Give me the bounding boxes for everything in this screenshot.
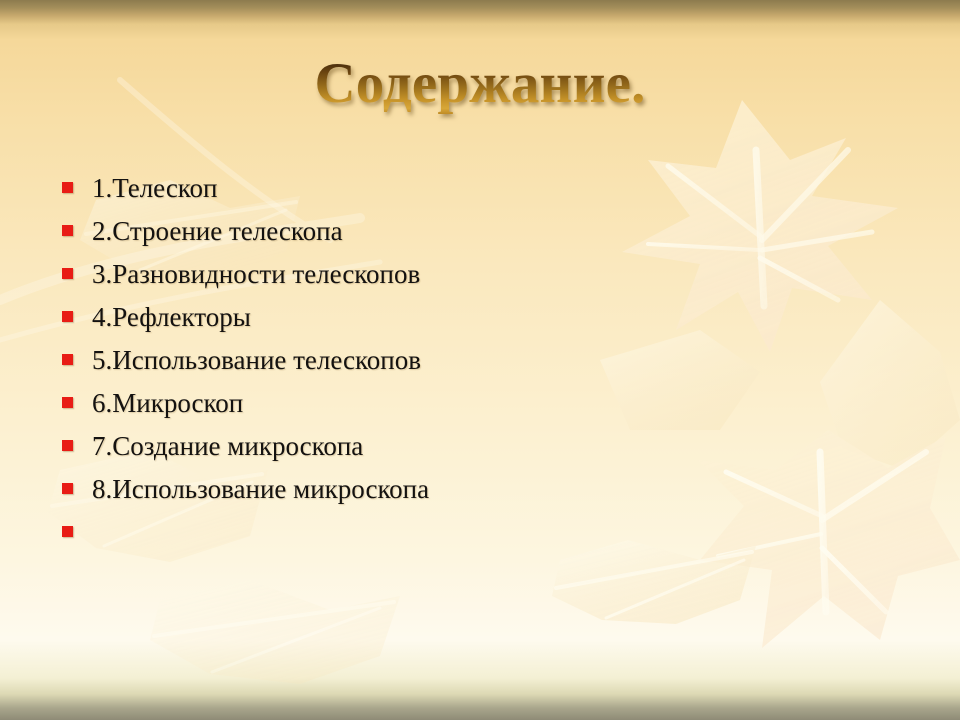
page-title: Содержание. xyxy=(314,52,645,116)
presentation-slide: Содержание. 1.Телескоп 2.Строение телеск… xyxy=(0,0,960,720)
bullet-square-icon xyxy=(62,526,73,537)
bullet-square-icon xyxy=(62,397,73,408)
list-item-label: 1.Телескоп xyxy=(92,173,218,203)
list-item[interactable]: 1.Телескоп xyxy=(54,166,854,209)
list-item[interactable]: 4.Рефлекторы xyxy=(54,295,854,338)
list-item[interactable]: 2.Строение телескопа xyxy=(54,209,854,252)
list-item-label: 7.Создание микроскопа xyxy=(92,431,363,461)
bullet-square-icon xyxy=(62,483,73,494)
list-item-empty[interactable] xyxy=(54,510,854,553)
bullet-square-icon xyxy=(62,182,73,193)
bullet-square-icon xyxy=(62,440,73,451)
list-item[interactable]: 6.Микроскоп xyxy=(54,381,854,424)
list-item-label: 2.Строение телескопа xyxy=(92,216,343,246)
list-item-label: 4.Рефлекторы xyxy=(92,302,251,332)
list-item[interactable]: 7.Создание микроскопа xyxy=(54,424,854,467)
list-item-label: 5.Использование телескопов xyxy=(92,345,421,375)
slide-title-container: Содержание. xyxy=(0,52,960,116)
table-of-contents-list: 1.Телескоп 2.Строение телескопа 3.Разнов… xyxy=(54,166,854,553)
list-item[interactable]: 5.Использование телескопов xyxy=(54,338,854,381)
list-item-label: 6.Микроскоп xyxy=(92,388,243,418)
bullet-square-icon xyxy=(62,225,73,236)
list-item[interactable]: 8.Использование микроскопа xyxy=(54,467,854,510)
bullet-square-icon xyxy=(62,311,73,322)
list-item-label: 3.Разновидности телескопов xyxy=(92,259,420,289)
list-item[interactable]: 3.Разновидности телескопов xyxy=(54,252,854,295)
list-item-label: 8.Использование микроскопа xyxy=(92,474,429,504)
bullet-square-icon xyxy=(62,268,73,279)
bullet-square-icon xyxy=(62,354,73,365)
